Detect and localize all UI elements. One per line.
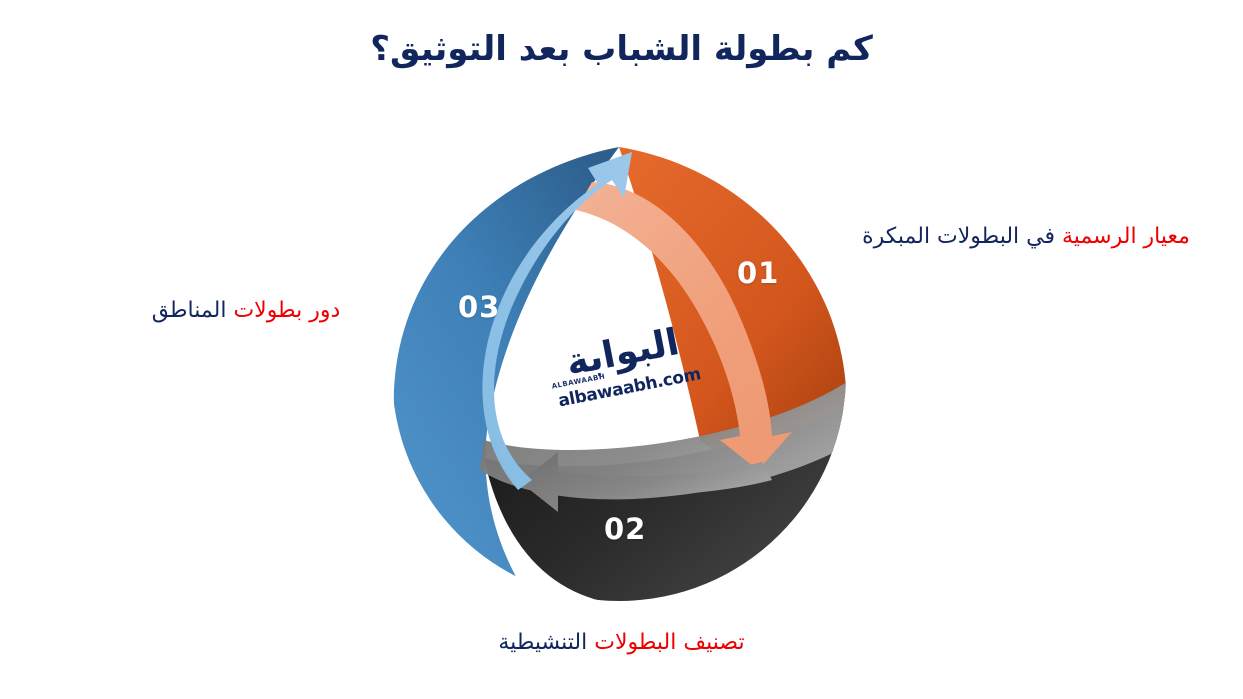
segment-label-02: تصنيف البطولات التنشيطية [0, 628, 1243, 658]
segment-number-03: 03 [458, 290, 500, 324]
segment-label-03: دور بطولات المناطق [96, 296, 396, 326]
segment-label-02-part-navy: التنشيطية [498, 630, 594, 655]
segment-label-01: معيار الرسمية في البطولات المبكرة [831, 222, 1221, 252]
segment-label-03-part-red: دور بطولات [233, 298, 340, 323]
segment-label-01-part-red: معيار الرسمية [1062, 224, 1190, 249]
segment-number-01: 01 [737, 256, 779, 290]
infographic-canvas: كم بطولة الشباب بعد التوثيق؟ [0, 0, 1243, 699]
segment-label-02-part-red: تصنيف البطولات [594, 630, 744, 655]
page-title: كم بطولة الشباب بعد التوثيق؟ [0, 28, 1243, 71]
segment-label-03-part-navy: المناطق [152, 298, 234, 323]
segment-label-01-part-navy: في البطولات المبكرة [862, 224, 1062, 249]
segment-number-02: 02 [604, 512, 646, 546]
